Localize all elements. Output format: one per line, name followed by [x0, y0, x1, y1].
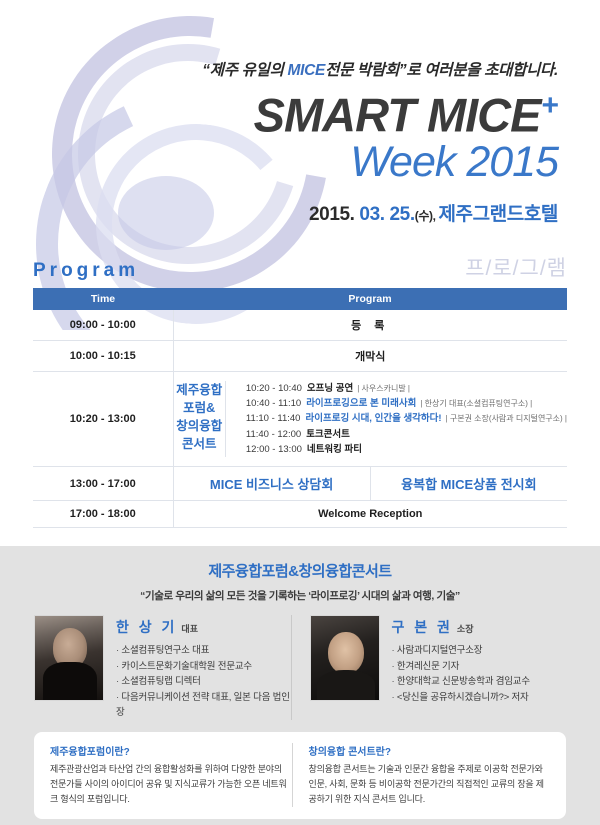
schedule-time: 10:20 - 10:40 [246, 383, 302, 394]
poster-tagline: “제주 유일의 MICE전문 박람회”로 여러분을 초대합니다. [0, 62, 558, 79]
column-header-time: Time [33, 288, 173, 310]
row-program: 개막식 [173, 340, 567, 371]
split-left-program: MICE 비즈니스 상담회 [174, 467, 371, 500]
list-item: 다음커뮤니케이션 전략 대표, 일본 다음 법인장 [116, 690, 291, 721]
main-session-title: 제주융합포럼& 창의융합콘서트 [174, 381, 226, 458]
speaker-photo [34, 615, 104, 701]
schedule-name: 네트워킹 파티 [307, 444, 362, 455]
list-item: 소셜컴퓨팅연구소 대표 [116, 643, 291, 658]
schedule-speaker: | 구본권 소장(사람과 디지털연구소) | [446, 414, 567, 423]
row-time: 10:00 - 10:15 [33, 340, 173, 371]
schedule-item: 11:10 - 11:40라이프로깅 시대, 인간을 생각하다!| 구본권 소장… [246, 411, 567, 426]
event-venue: 제주그랜드호텔 [438, 204, 558, 225]
schedule-name: 라이프로깅 시대, 인간을 생각하다! [305, 413, 441, 424]
title-plus-mark: + [541, 89, 558, 122]
tagline-mid: 전문 박람회” [325, 62, 406, 79]
list-item: <당신을 공유하시겠습니까?> 저자 [392, 690, 567, 705]
list-item: 한양대학교 신문방송학과 겸임교수 [392, 674, 567, 689]
event-date-venue: 2015. 03. 25.(수), 제주그랜드호텔 [0, 199, 558, 226]
speaker-card: 구 본 권소장 사람과디지털연구소장 한겨레신문 기자 한양대학교 신문방송학과… [291, 615, 567, 720]
speaker-list: 한 상 기대표 소셜컴퓨팅연구소 대표 카이스트문화기술대학원 전문교수 소셜컴… [0, 615, 600, 720]
list-item: 사람과디지털연구소장 [392, 643, 567, 658]
main-session-split: 제주융합포럼& 창의융합콘서트 10:20 - 10:40오프닝 공연| 사우스… [174, 381, 568, 458]
row-time: 13:00 - 17:00 [33, 467, 173, 501]
poster-header: “제주 유일의 MICE전문 박람회”로 여러분을 초대합니다. SMART M… [0, 0, 600, 226]
speaker-name: 한 상 기 [116, 617, 177, 637]
row-program: 등 록 [173, 310, 567, 341]
row-program-split: MICE 비즈니스 상담회 융복합 MICE상품 전시회 [173, 467, 567, 501]
speaker-credentials: 사람과디지털연구소장 한겨레신문 기자 한양대학교 신문방송학과 겸임교수 <당… [392, 643, 567, 705]
schedule-item: 10:40 - 11:10라이프로깅으로 본 미래사회| 한상기 대표(소셜컴퓨… [246, 396, 567, 411]
info-body: 제주관광산업과 타산업 간의 융합활성화를 위하여 다양한 분야의 전문가들 사… [50, 762, 292, 807]
page-title: SMART MICE+ [0, 91, 558, 139]
table-row: 10:00 - 10:15 개막식 [33, 340, 567, 371]
info-box: 제주융합포럼이란? 제주관광산업과 타산업 간의 융합활성화를 위하여 다양한 … [34, 732, 566, 819]
speaker-info: 구 본 권소장 사람과디지털연구소장 한겨레신문 기자 한양대학교 신문방송학과… [392, 615, 567, 705]
split-right-program: 융복합 MICE상품 전시회 [371, 467, 567, 500]
table-row: 09:00 - 10:00 등 록 [33, 310, 567, 341]
table-row: 13:00 - 17:00 MICE 비즈니스 상담회 융복합 MICE상품 전… [33, 467, 567, 501]
speaker-role: 소장 [457, 624, 474, 634]
date-year: 2015. [309, 204, 359, 225]
speaker-card: 한 상 기대표 소셜컴퓨팅연구소 대표 카이스트문화기술대학원 전문교수 소셜컴… [34, 615, 291, 720]
program-section: Program 프/로/그/램 Time Program 09:00 - 10:… [0, 226, 600, 529]
info-column-forum: 제주융합포럼이란? 제주관광산업과 타산업 간의 융합활성화를 위하여 다양한 … [50, 743, 292, 807]
title-main-text: SMART MICE [254, 89, 541, 142]
main-session-title-line2: 창의융합콘서트 [174, 417, 225, 453]
speaker-credentials: 소셜컴퓨팅연구소 대표 카이스트문화기술대학원 전문교수 소셜컴퓨팅랩 디렉터 … [116, 643, 291, 720]
program-label: Program [33, 260, 139, 282]
row-time: 09:00 - 10:00 [33, 310, 173, 341]
schedule-name: 라이프로깅으로 본 미래사회 [306, 398, 416, 409]
event-poster: “제주 유일의 MICE전문 박람회”로 여러분을 초대합니다. SMART M… [0, 0, 600, 825]
info-column-concert: 창의융합 콘서트란? 창의융합 콘서트는 기술과 인문간 융합을 주제로 이공학… [292, 743, 551, 807]
row-time: 17:00 - 18:00 [33, 501, 173, 528]
column-header-program: Program [173, 288, 567, 310]
schedule-name: 토크콘서트 [306, 429, 350, 440]
schedule-time: 11:40 - 12:00 [246, 429, 301, 440]
list-item: 소셜컴퓨팅랩 디렉터 [116, 674, 291, 689]
row-time: 10:20 - 13:00 [33, 371, 173, 467]
row-program: Welcome Reception [173, 501, 567, 528]
speaker-name: 구 본 권 [392, 617, 453, 637]
tagline-blue: MICE [288, 62, 326, 79]
program-table: Time Program 09:00 - 10:00 등 록 10:00 - 1… [33, 288, 567, 529]
schedule-time: 11:10 - 11:40 [246, 413, 301, 424]
date-month-day: 03. 25. [359, 204, 414, 225]
list-item: 한겨레신문 기자 [392, 659, 567, 674]
schedule-speaker: | 사우스카니발 | [357, 384, 410, 393]
schedule-time: 12:00 - 13:00 [246, 444, 302, 455]
speaker-info: 한 상 기대표 소셜컴퓨팅연구소 대표 카이스트문화기술대학원 전문교수 소셜컴… [116, 615, 291, 720]
tagline-pre: “제주 유일의 [202, 62, 287, 79]
speaker-role: 대표 [181, 624, 198, 634]
tagline-post: 로 여러분을 초대합니다. [406, 62, 558, 79]
info-heading: 창의융합 콘서트란? [309, 743, 551, 758]
schedule-item: 12:00 - 13:00네트워킹 파티 [246, 442, 567, 457]
schedule-speaker: | 한상기 대표(소셜컴퓨팅연구소) | [420, 399, 532, 408]
schedule-item: 10:20 - 10:40오프닝 공연| 사우스카니발 | [246, 381, 567, 396]
main-session-title-line1: 제주융합포럼& [174, 381, 225, 417]
schedule-item: 11:40 - 12:00토크콘서트 [246, 427, 567, 442]
split-container: MICE 비즈니스 상담회 융복합 MICE상품 전시회 [174, 467, 568, 500]
forum-subtitle: “기술로 우리의 삶의 모든 것을 기록하는 ‘라이프로깅’ 시대의 삶과 여행… [0, 588, 600, 603]
info-box-wrapper: 제주융합포럼이란? 제주관광산업과 타산업 간의 융합활성화를 위하여 다양한 … [0, 732, 600, 819]
table-row: 17:00 - 18:00 Welcome Reception [33, 501, 567, 528]
row-program-detail: 제주융합포럼& 창의융합콘서트 10:20 - 10:40오프닝 공연| 사우스… [173, 371, 567, 467]
session-schedule-list: 10:20 - 10:40오프닝 공연| 사우스카니발 | 10:40 - 11… [226, 381, 567, 458]
forum-title: 제주융합포럼&창의융합콘서트 [0, 560, 600, 581]
info-body: 창의융합 콘서트는 기술과 인문간 융합을 주제로 이공학 전문가와 인문, 사… [309, 762, 551, 807]
schedule-name: 오프닝 공연 [307, 383, 353, 394]
speaker-photo [310, 615, 380, 701]
schedule-time: 10:40 - 11:10 [246, 398, 301, 409]
date-weekday: (수), [415, 209, 439, 223]
forum-band: 제주융합포럼&창의융합콘서트 “기술로 우리의 삶의 모든 것을 기록하는 ‘라… [0, 546, 600, 825]
table-row-main-session: 10:20 - 13:00 제주융합포럼& 창의융합콘서트 10:20 - 10… [33, 371, 567, 467]
program-watermark: 프/로/그/램 [465, 252, 567, 282]
program-heading-row: Program 프/로/그/램 [33, 252, 567, 282]
list-item: 카이스트문화기술대학원 전문교수 [116, 659, 291, 674]
page-subtitle: Week 2015 [0, 141, 558, 185]
info-heading: 제주융합포럼이란? [50, 743, 292, 758]
table-header-row: Time Program [33, 288, 567, 310]
